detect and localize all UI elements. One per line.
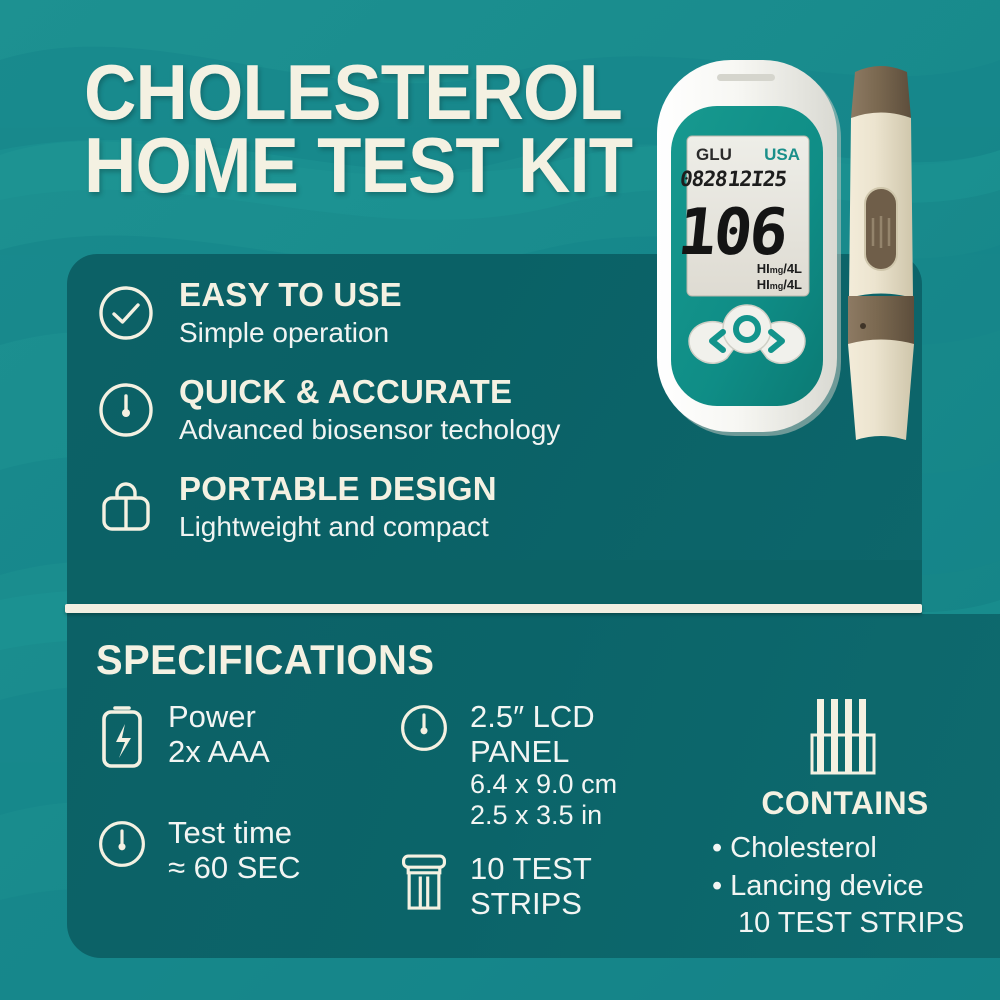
svg-text:106: 106: [674, 195, 789, 270]
bullet-icon: •: [712, 832, 722, 864]
spec-lcd-panel: PANEL: [470, 735, 617, 770]
contains-item-lancing-device: •Lancing device: [712, 868, 990, 906]
vial-icon: [398, 852, 454, 914]
contains-item-label: Lancing device: [730, 870, 923, 902]
spec-item-lcd-panel: 2.5″ LCD PANEL 6.4 x 9.0 cm 2.5 x 3.5 in: [398, 700, 688, 830]
contains-item-label: Cholesterol: [730, 832, 877, 864]
feature-subtitle: Lightweight and compact: [179, 510, 497, 544]
page-title: CHOLESTEROL HOME TEST KIT: [84, 56, 642, 203]
spec-column-lcd: 2.5″ LCD PANEL 6.4 x 9.0 cm 2.5 x 3.5 in…: [398, 700, 688, 943]
spec-power-label: Power: [168, 700, 270, 735]
feature-item-portable-design: PORTABLE DESIGN Lightweight and compact: [95, 472, 715, 543]
title-line-2: HOME TEST KIT: [84, 129, 642, 202]
feature-title: QUICK & ACCURATE: [179, 375, 560, 410]
feature-item-quick-accurate: QUICK & ACCURATE Advanced biosensor tech…: [95, 375, 715, 446]
gauge-circle-icon: [96, 816, 152, 872]
spec-item-test-time: Test time ≈ 60 SEC: [96, 816, 396, 885]
spec-lcd-dim-cm: 6.4 x 9.0 cm: [470, 769, 617, 799]
spec-column-power: Power 2x AAA Test time ≈ 60 SEC: [96, 700, 396, 907]
feature-subtitle: Advanced biosensor techology: [179, 413, 560, 447]
briefcase-icon: [95, 476, 157, 538]
feature-subtitle: Simple operation: [179, 316, 402, 350]
spec-test-time-label: Test time: [168, 816, 300, 851]
check-circle-icon: [95, 282, 157, 344]
spec-strips-label: STRIPS: [470, 887, 592, 922]
lcd-screen: GLU USA 0828 12I25 106 HImg/4L HImg/4L: [674, 136, 809, 296]
feature-title: EASY TO USE: [179, 278, 402, 313]
spec-test-time-value: ≈ 60 SEC: [168, 851, 300, 886]
spec-lcd-dim-in: 2.5 x 3.5 in: [470, 800, 617, 830]
svg-text:12I25: 12I25: [727, 166, 789, 191]
contains-item-cholesterol: •Cholesterol: [712, 830, 990, 868]
battery-icon: [96, 700, 152, 772]
bullet-icon: •: [712, 870, 722, 902]
feature-title: PORTABLE DESIGN: [179, 472, 497, 507]
feature-item-easy-to-use: EASY TO USE Simple operation: [95, 278, 715, 349]
test-strips-icon: [806, 695, 884, 779]
lancing-device-body: [848, 66, 914, 440]
feature-list: EASY TO USE Simple operation QUICK & ACC…: [95, 278, 715, 570]
svg-text:GLU: GLU: [696, 145, 732, 164]
contains-heading: CONTAINS: [700, 785, 990, 822]
spec-lcd-size: 2.5″ LCD: [470, 700, 617, 735]
spec-strips-count: 10 TEST: [470, 852, 592, 887]
svg-text:USA: USA: [764, 145, 800, 164]
specifications-heading: SPECIFICATIONS: [96, 636, 434, 684]
contains-list: •Cholesterol •Lancing device 10 TEST STR…: [700, 830, 990, 943]
infographic-canvas: CHOLESTEROL HOME TEST KIT: [0, 0, 1000, 1000]
spec-item-power: Power 2x AAA: [96, 700, 396, 772]
spec-item-test-strips: 10 TEST STRIPS: [398, 852, 688, 921]
gauge-circle-icon: [398, 700, 454, 756]
spec-power-value: 2x AAA: [168, 735, 270, 770]
spec-column-contains: CONTAINS •Cholesterol •Lancing device 10…: [700, 695, 990, 943]
section-divider: [65, 604, 922, 613]
contains-footnote: 10 TEST STRIPS: [712, 905, 990, 943]
svg-text:0828: 0828: [679, 166, 729, 191]
gauge-circle-icon: [95, 379, 157, 441]
